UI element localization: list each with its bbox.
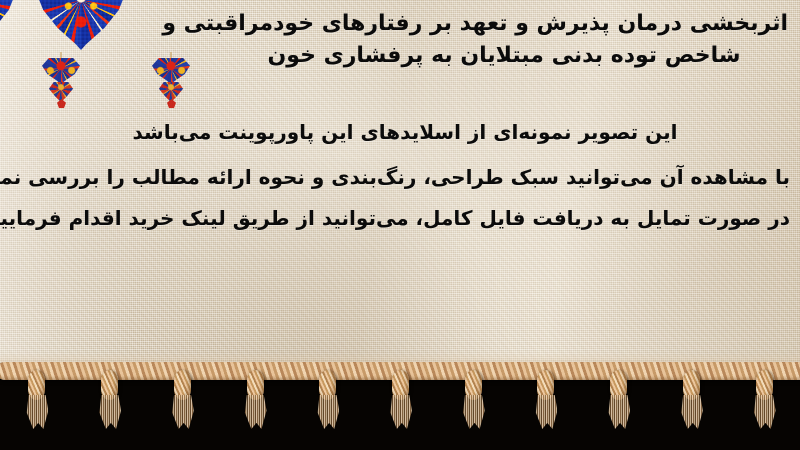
fringe-tassel <box>461 370 485 428</box>
tassel-skirt <box>98 395 121 429</box>
tassel-skirt <box>680 395 703 429</box>
slide-body-line-1: این تصویر نمونه‌ای از اسلایدهای این پاور… <box>20 112 790 153</box>
slide-body-line-2: با مشاهده آن می‌توانید سبک طراحی، رنگ‌بن… <box>20 157 790 198</box>
tassel-skirt <box>25 395 48 429</box>
fringe-tassel <box>533 370 557 428</box>
slide-title: اثربخشی درمان پذیرش و تعهد بر رفتارهای خ… <box>220 8 788 72</box>
slide-title-line-2: شاخص توده بدنی مبتلایان به پرفشاری خون <box>220 40 788 72</box>
slide-title-line-1: اثربخشی درمان پذیرش و تعهد بر رفتارهای خ… <box>220 8 788 40</box>
fringe-tassel <box>24 370 48 428</box>
tassel-skirt <box>316 395 339 429</box>
fringe-tassel <box>752 370 776 428</box>
slide-body-line-3: در صورت تمایل به دریافت فایل کامل، می‌تو… <box>20 198 790 239</box>
fringe-tassel <box>170 370 194 428</box>
fringe-tassel <box>243 370 267 428</box>
presentation-slide: اثربخشی درمان پذیرش و تعهد بر رفتارهای خ… <box>0 0 800 450</box>
tassel-skirt <box>462 395 485 429</box>
fringe-tassel <box>606 370 630 428</box>
fringe-tassel <box>97 370 121 428</box>
tassel-skirt <box>244 395 267 429</box>
tassel-skirt <box>753 395 776 429</box>
fringe-tassel <box>388 370 412 428</box>
fringe-tassel <box>679 370 703 428</box>
tassel-skirt <box>534 395 557 429</box>
slide-body: این تصویر نمونه‌ای از اسلایدهای این پاور… <box>20 112 790 239</box>
tassel-skirt <box>171 395 194 429</box>
tassel-skirt <box>607 395 630 429</box>
fringe-tassel <box>315 370 339 428</box>
tassel-skirt <box>389 395 412 429</box>
